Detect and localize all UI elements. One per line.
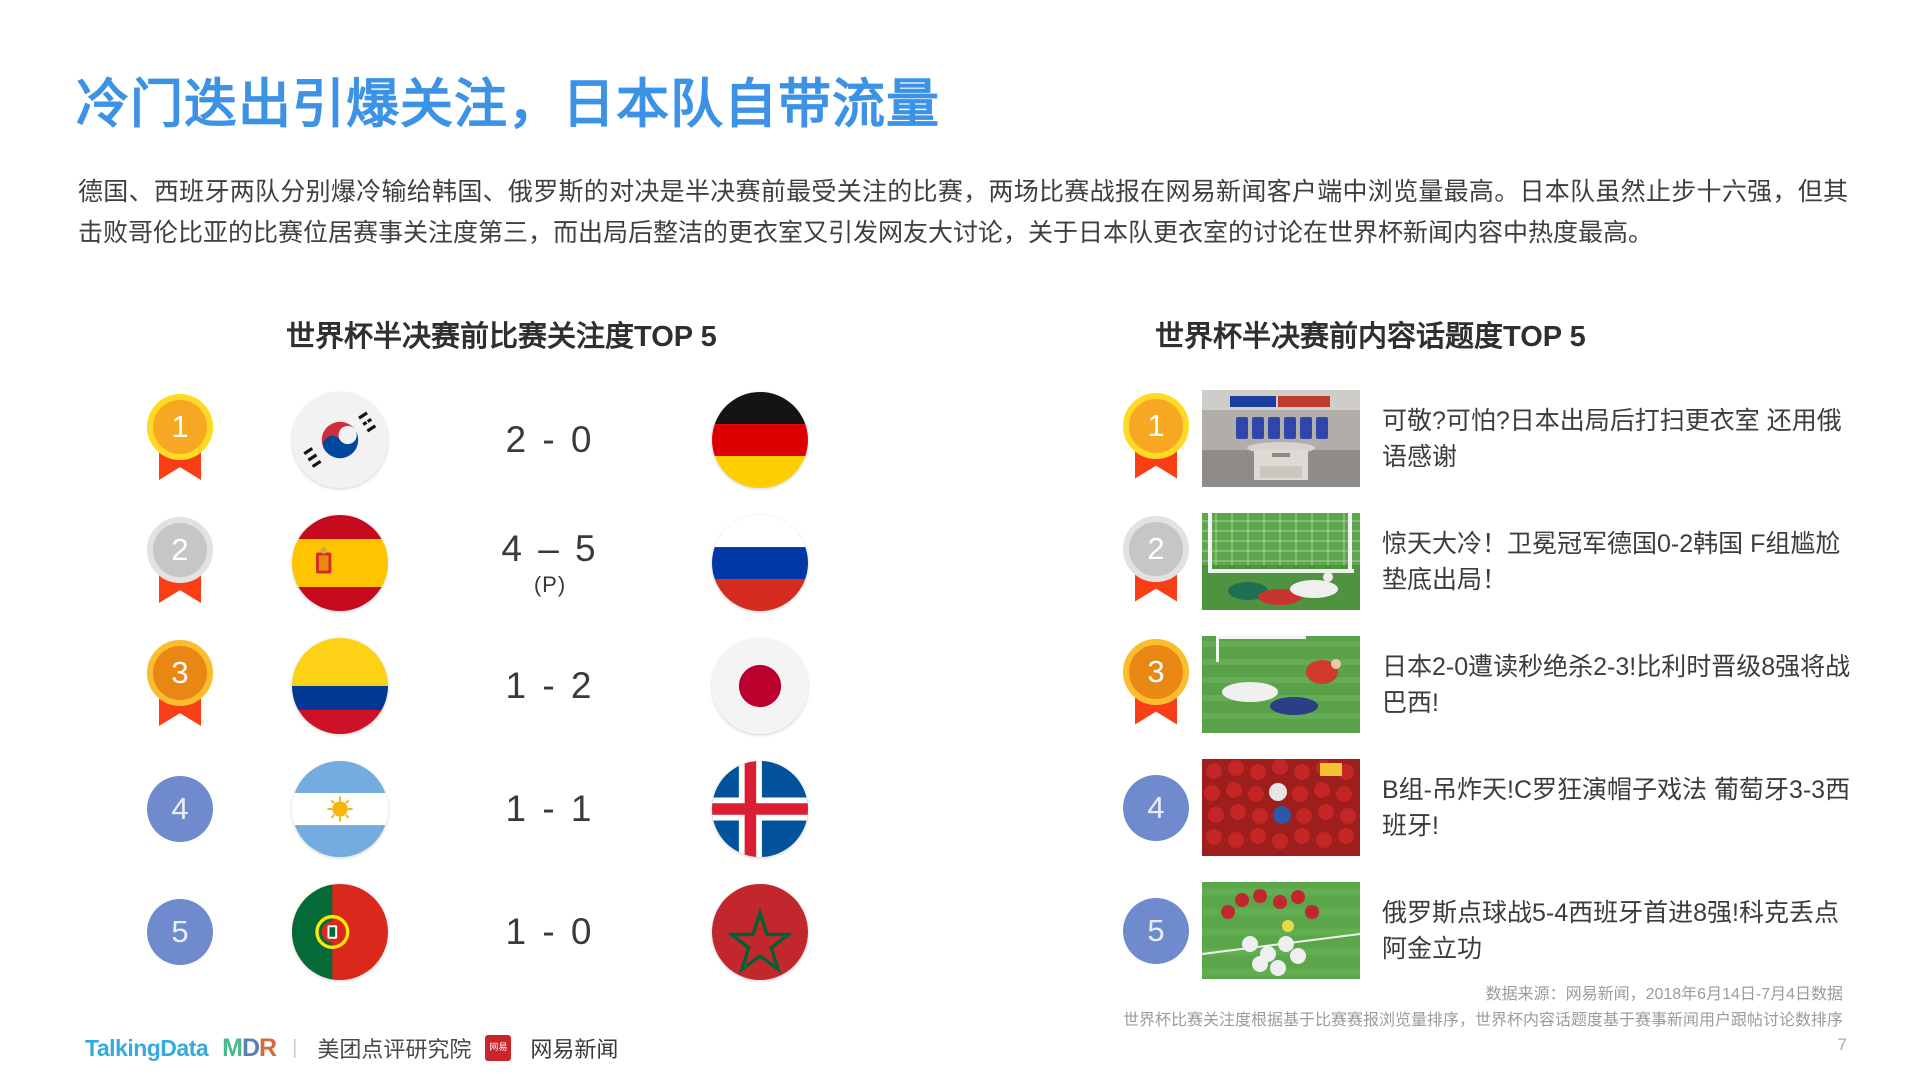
flag-japan-icon xyxy=(712,638,808,734)
goalmouth-photo[interactable] xyxy=(1202,513,1360,610)
news-title[interactable]: 日本2-0遭读秒绝杀2-3!比利时晋级8强将战巴西! xyxy=(1382,649,1852,721)
flag-spain-icon xyxy=(292,515,388,611)
news-rank-cell: 3 xyxy=(1110,639,1202,731)
flag-russia-icon xyxy=(712,515,808,611)
match-score: 2 - 0 xyxy=(430,419,670,461)
home-flag-cell xyxy=(250,392,430,488)
pitch-photo[interactable] xyxy=(1202,636,1360,733)
talkingdata-logo: TalkingData xyxy=(85,1035,208,1062)
match-score: 4 – 5 (P) xyxy=(430,528,670,598)
match-rank-cell: 1 xyxy=(110,394,250,486)
medal-disc-icon: 2 xyxy=(147,517,213,583)
news-title[interactable]: 可敬?可怕?日本出局后打扫更衣室 还用俄语感谢 xyxy=(1382,403,1852,475)
rank-badge-news-1: 1 xyxy=(1123,393,1189,485)
news-title[interactable]: 俄罗斯点球战5-4西班牙首进8强!科克丢点阿金立功 xyxy=(1382,895,1852,967)
match-row: 5 1 - 0 xyxy=(110,872,850,992)
news-row[interactable]: 2 惊天大冷！卫冕冠军德国0-2韩国 F组尴尬垫底出局！ xyxy=(1110,503,1870,620)
footer-logos: TalkingData MDR | 美团点评研究院 网易 网易新闻 xyxy=(85,1032,618,1064)
away-flag-cell xyxy=(670,761,850,857)
flag-iceland-icon xyxy=(712,761,808,857)
match-score: 1 - 2 xyxy=(430,665,670,707)
match-row: 1 2 - 0 xyxy=(110,380,850,500)
news-title[interactable]: 惊天大冷！卫冕冠军德国0-2韩国 F组尴尬垫底出局！ xyxy=(1382,526,1852,598)
page-subtitle: 德国、西班牙两队分别爆冷输给韩国、俄罗斯的对决是半决赛前最受关注的比赛，两场比赛… xyxy=(78,172,1848,254)
news-row[interactable]: 4 B组-吊炸天!C罗狂演帽子戏法 葡萄牙3-3西班牙! xyxy=(1110,749,1870,866)
news-rank-cell: 4 xyxy=(1110,775,1202,841)
mdr-logo-text: 美团点评研究院 xyxy=(317,1032,471,1064)
match-score-main: 1 - 2 xyxy=(505,665,594,707)
slide: 冷门迭出引爆关注，日本队自带流量 德国、西班牙两队分别爆冷输给韩国、俄罗斯的对决… xyxy=(0,0,1921,1080)
netease-badge-icon: 网易 xyxy=(485,1035,511,1061)
netease-logo-text: 网易新闻 xyxy=(530,1032,618,1064)
flag-argentina-icon xyxy=(292,761,388,857)
match-score-main: 2 - 0 xyxy=(505,419,594,461)
away-flag-cell xyxy=(670,884,850,980)
match-score-note: (P) xyxy=(534,572,566,598)
news-row[interactable]: 5 俄罗斯点球战5-4西班牙首进8强!科克丢点阿金立功 xyxy=(1110,872,1870,989)
match-row: 2 4 – 5 (P) xyxy=(110,503,850,623)
rank-badge-3: 3 xyxy=(147,640,213,732)
flag-morocco-icon xyxy=(712,884,808,980)
match-rank-cell: 3 xyxy=(110,640,250,732)
news-row[interactable]: 3 日本2-0遭读秒绝杀2-3!比利时晋级8强将战巴西! xyxy=(1110,626,1870,743)
page-number: 7 xyxy=(1838,1035,1847,1055)
medal-disc-icon: 1 xyxy=(147,394,213,460)
rank-badge-5: 5 xyxy=(147,899,213,965)
news-title[interactable]: B组-吊炸天!C罗狂演帽子戏法 葡萄牙3-3西班牙! xyxy=(1382,772,1852,844)
celebration-photo[interactable] xyxy=(1202,882,1360,979)
home-flag-cell xyxy=(250,638,430,734)
medal-disc-icon: 3 xyxy=(1123,639,1189,705)
match-list: 1 2 - 0 2 xyxy=(110,380,850,995)
medal-disc-icon: 1 xyxy=(1123,393,1189,459)
match-score-main: 4 – 5 xyxy=(501,528,598,570)
rank-badge-news-3: 3 xyxy=(1123,639,1189,731)
flag-germany-icon xyxy=(712,392,808,488)
home-flag-cell xyxy=(250,761,430,857)
source-line-2: 世界杯比赛关注度根据基于比赛赛报浏览量排序，世界杯内容话题度基于赛事新闻用户跟帖… xyxy=(1123,1008,1843,1034)
source-line-1: 数据来源：网易新闻，2018年6月14日-7月4日数据 xyxy=(1123,982,1843,1008)
rank-badge-4: 4 xyxy=(147,776,213,842)
rank-badge-news-5: 5 xyxy=(1123,898,1189,964)
match-rank-cell: 4 xyxy=(110,776,250,842)
medal-disc-icon: 2 xyxy=(1123,516,1189,582)
match-score: 1 - 0 xyxy=(430,911,670,953)
talkingdata-logo-text: TalkingData xyxy=(85,1035,208,1061)
rank-badge-news-2: 2 xyxy=(1123,516,1189,608)
home-flag-cell xyxy=(250,884,430,980)
medal-disc-icon: 3 xyxy=(147,640,213,706)
flag-colombia-icon xyxy=(292,638,388,734)
match-row: 3 1 - 2 xyxy=(110,626,850,746)
news-row[interactable]: 1 可敬?可怕?日本出局后打扫更衣室 还用俄语感谢 xyxy=(1110,380,1870,497)
right-section-heading: 世界杯半决赛前内容话题度TOP 5 xyxy=(1155,313,1586,355)
news-list: 1 可敬?可怕?日本出局后打扫更衣室 还用俄语感谢 2 xyxy=(1110,380,1870,995)
home-flag-cell xyxy=(250,515,430,611)
match-score-main: 1 - 1 xyxy=(505,788,594,830)
match-score-main: 1 - 0 xyxy=(505,911,594,953)
rank-badge-2: 2 xyxy=(147,517,213,609)
match-rank-cell: 2 xyxy=(110,517,250,609)
crowd-photo[interactable] xyxy=(1202,759,1360,856)
flag-korea-icon xyxy=(292,392,388,488)
rank-badge-news-4: 4 xyxy=(1123,775,1189,841)
match-row: 4 1 - 1 xyxy=(110,749,850,869)
lockerroom-photo[interactable] xyxy=(1202,390,1360,487)
news-rank-cell: 2 xyxy=(1110,516,1202,608)
page-title: 冷门迭出引爆关注，日本队自带流量 xyxy=(76,62,940,138)
rank-badge-1: 1 xyxy=(147,394,213,486)
mdr-logo: MDR xyxy=(222,1034,276,1063)
match-rank-cell: 5 xyxy=(110,899,250,965)
away-flag-cell xyxy=(670,392,850,488)
news-rank-cell: 5 xyxy=(1110,898,1202,964)
match-score: 1 - 1 xyxy=(430,788,670,830)
flag-portugal-icon xyxy=(292,884,388,980)
logo-divider: | xyxy=(292,1037,297,1060)
away-flag-cell xyxy=(670,638,850,734)
news-rank-cell: 1 xyxy=(1110,393,1202,485)
left-section-heading: 世界杯半决赛前比赛关注度TOP 5 xyxy=(286,313,717,355)
away-flag-cell xyxy=(670,515,850,611)
source-note: 数据来源：网易新闻，2018年6月14日-7月4日数据 世界杯比赛关注度根据基于… xyxy=(1123,982,1843,1034)
